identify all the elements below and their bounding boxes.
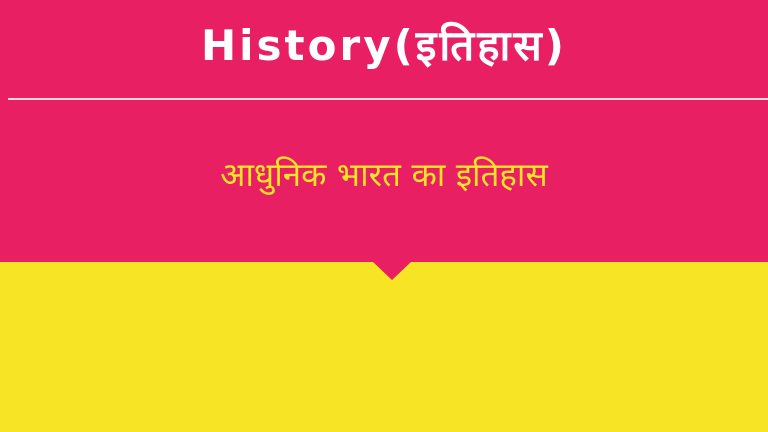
title-row: History(इतिहास)	[0, 0, 768, 92]
pink-header-band: History(इतिहास) आधुनिक भारत का इतिहास	[0, 0, 768, 262]
page-title: History(इतिहास)	[201, 25, 567, 67]
chevron-down-icon	[373, 262, 411, 280]
title-divider-line	[8, 98, 768, 100]
yellow-caption-band: आधुनिक भारत की महत्वपूर्ण संस्था	[0, 262, 768, 432]
subtitle-row: आधुनिक भारत का इतिहास	[0, 130, 768, 220]
subtitle-heading: आधुनिक भारत का इतिहास	[220, 154, 548, 195]
slide-canvas: History(इतिहास) आधुनिक भारत का इतिहास आध…	[0, 0, 768, 432]
